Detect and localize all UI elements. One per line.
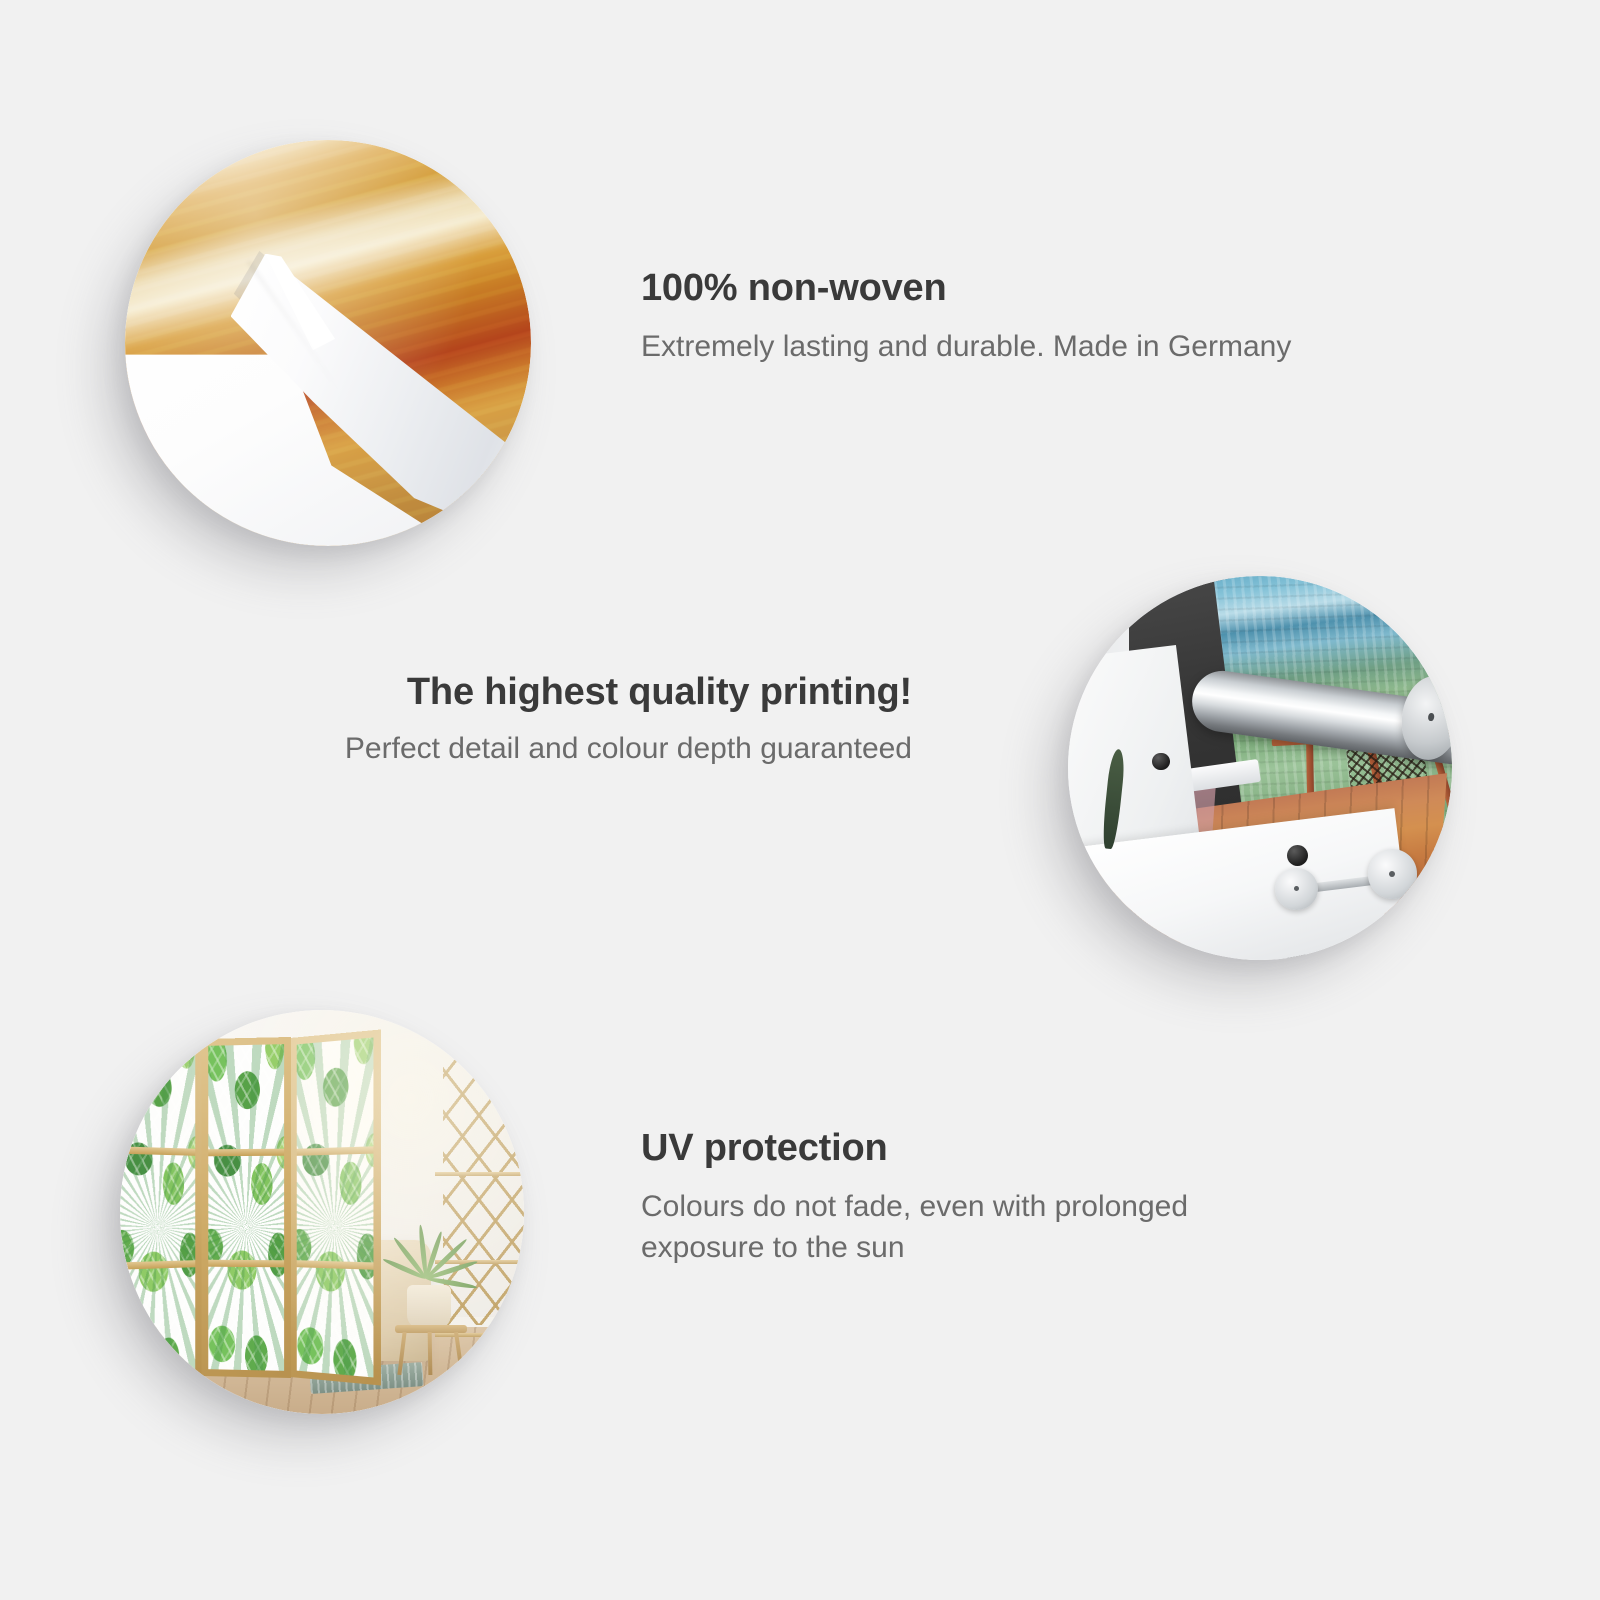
peeling-wallpaper-photo — [125, 140, 531, 546]
feature-heading: 100% non-woven — [641, 268, 1321, 310]
machine-knob — [1287, 845, 1308, 866]
tropical-leaf-pattern — [208, 1044, 284, 1371]
machine-wheel — [1368, 849, 1418, 899]
printing-machine-photo — [1068, 576, 1452, 960]
tropical-room-divider-photo — [120, 1010, 524, 1414]
machine-knob — [1152, 753, 1169, 770]
machine-wheel — [1275, 868, 1317, 910]
panel-crossbar — [208, 1260, 284, 1268]
feature-text-uv-protection: UV protection Colours do not fade, even … — [641, 1128, 1281, 1269]
panel-crossbar — [208, 1149, 284, 1157]
divider-panel — [201, 1037, 291, 1378]
feature-body: Colours do not fade, even with prolonged… — [641, 1186, 1281, 1269]
feature-body: Perfect detail and colour depth guarante… — [300, 728, 912, 769]
feature-highlights-page: 100% non-woven Extremely lasting and dur… — [0, 0, 1600, 1600]
feature-text-non-woven: 100% non-woven Extremely lasting and dur… — [641, 268, 1321, 367]
feature-heading: The highest quality printing! — [300, 672, 912, 714]
feature-text-printing: The highest quality printing! Perfect de… — [300, 672, 912, 769]
feature-body: Extremely lasting and durable. Made in G… — [641, 326, 1321, 367]
feature-heading: UV protection — [641, 1128, 1281, 1170]
sunlight-glow — [120, 1010, 524, 1414]
